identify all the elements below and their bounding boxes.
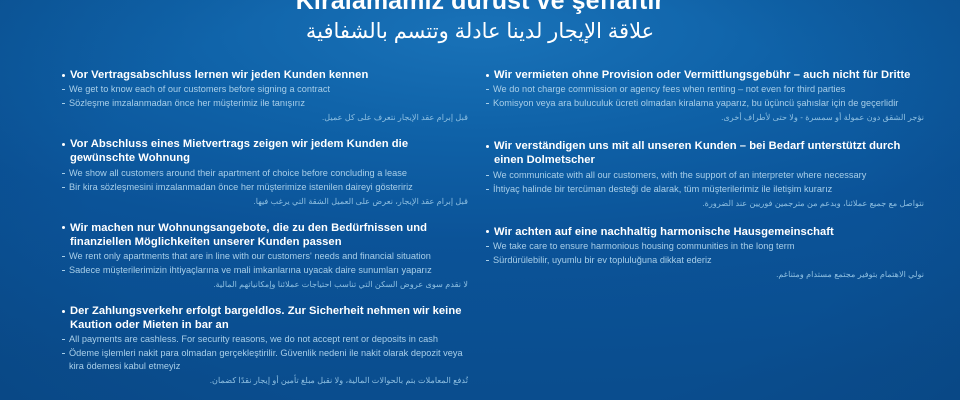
- subline-row: İhtiyaç halinde bir tercüman desteği de …: [486, 183, 924, 196]
- subline-text-arabic: قبل إبرام عقد الإيجار نتعرف على كل عميل.: [62, 112, 468, 124]
- subline-row: Sözleşme imzalanmadan önce her müşterimi…: [62, 97, 468, 110]
- subline-row: We take care to ensure harmonious housin…: [486, 240, 924, 253]
- subline-text-arabic: قبل إبرام عقد الإيجار، نعرض على العميل ا…: [62, 196, 468, 208]
- subline-text-turkish: Bir kira sözleşmesini imzalanmadan önce …: [69, 181, 468, 194]
- subline-row: Bir kira sözleşmesini imzalanmadan önce …: [62, 181, 468, 194]
- subline-row: Sadece müşterilerimizin ihtiyaçlarına ve…: [62, 264, 468, 277]
- subline-row: We show all customers around their apart…: [62, 167, 468, 180]
- headline-text-german: Wir verständigen uns mit all unseren Kun…: [494, 139, 924, 167]
- subline-row: We do not charge commission or agency fe…: [486, 83, 924, 96]
- headline-text-german: Vor Vertragsabschluss lernen wir jeden K…: [70, 68, 468, 82]
- subline-text-turkish: Sadece müşterilerimizin ihtiyaçlarına ve…: [69, 264, 468, 277]
- list-item: Wir vermieten ohne Provision oder Vermit…: [486, 68, 924, 124]
- bullet-dot-icon: [486, 74, 489, 77]
- subline-text-english: We get to know each of our customers bef…: [69, 83, 468, 96]
- dash-bullet-icon: [486, 103, 489, 104]
- headline-text-german: Vor Abschluss eines Mietvertrags zeigen …: [70, 137, 468, 165]
- subline-text-english: We communicate with all our customers, w…: [493, 169, 924, 182]
- dash-bullet-icon: [62, 89, 65, 90]
- dash-bullet-icon: [486, 89, 489, 90]
- headline-text-german: Wir achten auf eine nachhaltig harmonisc…: [494, 225, 924, 239]
- right-column: Wir vermieten ohne Provision oder Vermit…: [480, 68, 960, 400]
- subline-row: We get to know each of our customers bef…: [62, 83, 468, 96]
- headline-row: Vor Abschluss eines Mietvertrags zeigen …: [62, 137, 468, 165]
- subline-text-turkish: Ödeme işlemleri nakit para olmadan gerçe…: [69, 347, 468, 373]
- subline-row: All payments are cashless. For security …: [62, 333, 468, 346]
- subline-row: Komisyon veya ara buluculuk ücreti olmad…: [486, 97, 924, 110]
- headline-text-german: Wir machen nur Wohnungsangebote, die zu …: [70, 221, 468, 249]
- headline-row: Wir verständigen uns mit all unseren Kun…: [486, 139, 924, 167]
- subline-text-english: We take care to ensure harmonious housin…: [493, 240, 924, 253]
- subline-row: Sürdürülebilir, uyumlu bir ev topluluğun…: [486, 254, 924, 267]
- left-column: Vor Vertragsabschluss lernen wir jeden K…: [0, 68, 480, 400]
- dash-bullet-icon: [62, 353, 65, 354]
- dash-bullet-icon: [62, 103, 65, 104]
- content-columns: Vor Vertragsabschluss lernen wir jeden K…: [0, 68, 960, 400]
- dash-bullet-icon: [486, 175, 489, 176]
- bullet-dot-icon: [62, 226, 65, 229]
- slide-title-block: Kiralamamız dürüst ve şeffaftır علاقة ال…: [0, 0, 960, 45]
- page-title-arabic: علاقة الإيجار لدينا عادلة وتتسم بالشفافي…: [0, 18, 960, 45]
- dash-bullet-icon: [62, 256, 65, 257]
- dash-bullet-icon: [62, 270, 65, 271]
- subline-text-english: We rent only apartments that are in line…: [69, 250, 468, 263]
- dash-bullet-icon: [62, 173, 65, 174]
- dash-bullet-icon: [62, 339, 65, 340]
- list-item: Wir verständigen uns mit all unseren Kun…: [486, 139, 924, 209]
- subline-row: We rent only apartments that are in line…: [62, 250, 468, 263]
- subline-text-arabic: لا نقدم سوى عروض السكن التي تناسب احتياج…: [62, 279, 468, 291]
- dash-bullet-icon: [486, 189, 489, 190]
- headline-row: Der Zahlungsverkehr erfolgt bargeldlos. …: [62, 304, 468, 332]
- page-title-turkish: Kiralamamız dürüst ve şeffaftır: [0, 0, 960, 16]
- subline-text-turkish: Komisyon veya ara buluculuk ücreti olmad…: [493, 97, 924, 110]
- list-item: Wir machen nur Wohnungsangebote, die zu …: [62, 221, 468, 291]
- dash-bullet-icon: [62, 187, 65, 188]
- bullet-dot-icon: [62, 310, 65, 313]
- headline-row: Wir vermieten ohne Provision oder Vermit…: [486, 68, 924, 82]
- bullet-dot-icon: [486, 230, 489, 233]
- list-item: Vor Vertragsabschluss lernen wir jeden K…: [62, 68, 468, 124]
- dash-bullet-icon: [486, 246, 489, 247]
- subline-text-turkish: Sürdürülebilir, uyumlu bir ev topluluğun…: [493, 254, 924, 267]
- list-item: Der Zahlungsverkehr erfolgt bargeldlos. …: [62, 304, 468, 387]
- headline-row: Wir achten auf eine nachhaltig harmonisc…: [486, 225, 924, 239]
- headline-row: Wir machen nur Wohnungsangebote, die zu …: [62, 221, 468, 249]
- subline-row: Ödeme işlemleri nakit para olmadan gerçe…: [62, 347, 468, 373]
- headline-text-german: Wir vermieten ohne Provision oder Vermit…: [494, 68, 924, 82]
- subline-text-turkish: Sözleşme imzalanmadan önce her müşterimi…: [69, 97, 468, 110]
- list-item: Vor Abschluss eines Mietvertrags zeigen …: [62, 137, 468, 207]
- subline-text-arabic: نتواصل مع جميع عملائنا، وبدعم من مترجمين…: [486, 198, 924, 210]
- list-item: Wir achten auf eine nachhaltig harmonisc…: [486, 225, 924, 281]
- headline-text-german: Der Zahlungsverkehr erfolgt bargeldlos. …: [70, 304, 468, 332]
- dash-bullet-icon: [486, 260, 489, 261]
- bullet-dot-icon: [486, 145, 489, 148]
- subline-text-english: We show all customers around their apart…: [69, 167, 468, 180]
- subline-text-arabic: نولي الاهتمام بتوفير مجتمع مستدام ومتناغ…: [486, 269, 924, 281]
- slide-root: Kiralamamız dürüst ve şeffaftır علاقة ال…: [0, 0, 960, 400]
- bullet-dot-icon: [62, 143, 65, 146]
- bullet-dot-icon: [62, 74, 65, 77]
- subline-text-turkish: İhtiyaç halinde bir tercüman desteği de …: [493, 183, 924, 196]
- subline-text-arabic: نؤجر الشقق دون عمولة أو سمسرة - ولا حتى …: [486, 112, 924, 124]
- subline-text-english: All payments are cashless. For security …: [69, 333, 468, 346]
- subline-text-arabic: تُدفع المعاملات بتم بالحوالات المالية، و…: [62, 375, 468, 387]
- subline-text-english: We do not charge commission or agency fe…: [493, 83, 924, 96]
- subline-row: We communicate with all our customers, w…: [486, 169, 924, 182]
- headline-row: Vor Vertragsabschluss lernen wir jeden K…: [62, 68, 468, 82]
